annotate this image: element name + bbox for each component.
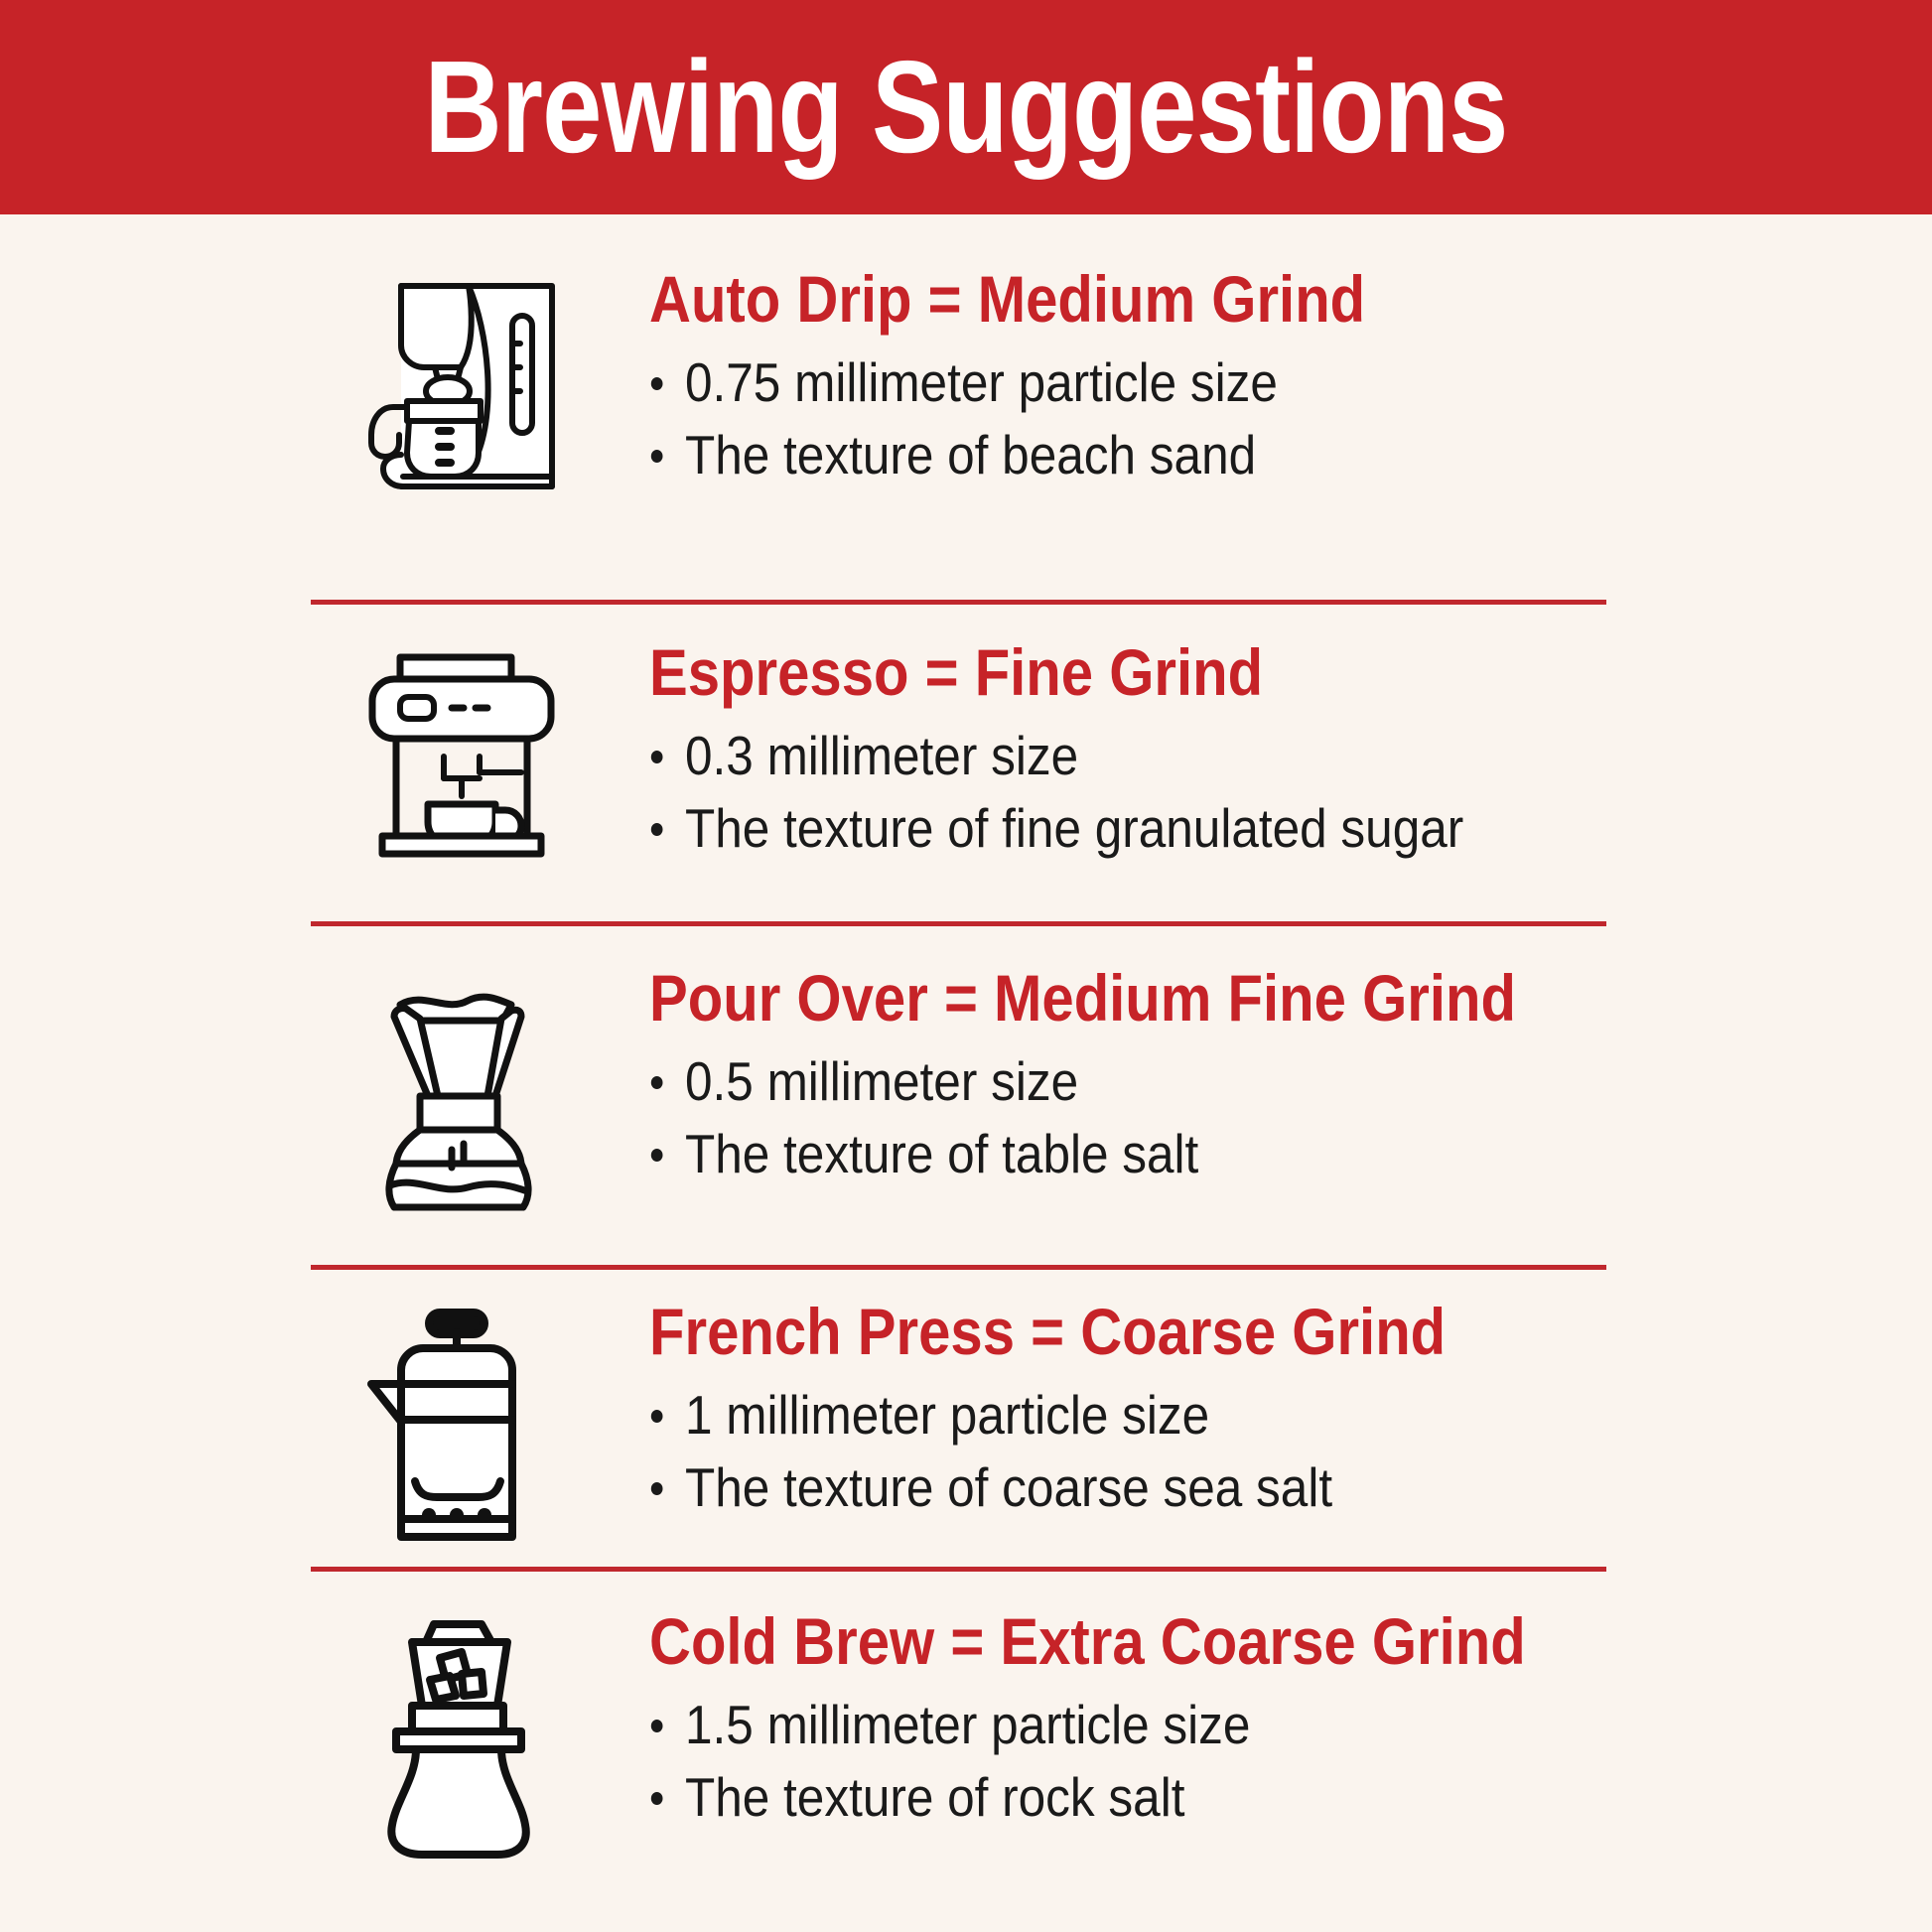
section-heading: Auto Drip = Medium Grind (649, 266, 1778, 333)
bullet-dot-icon (651, 1482, 663, 1495)
section-heading: Cold Brew = Extra Coarse Grind (649, 1608, 1778, 1675)
brew-method-section: French Press = Coarse Grind 1 millimeter… (0, 1299, 1932, 1553)
bullet-text: 0.75 millimeter particle size (685, 351, 1278, 413)
list-item: 1 millimeter particle size (649, 1379, 1804, 1451)
bullet-text: The texture of beach sand (685, 424, 1256, 485)
bullet-text: The texture of table salt (685, 1123, 1198, 1184)
bullet-dot-icon (651, 1720, 663, 1732)
icon-cell (298, 639, 625, 859)
bullet-list: 1.5 millimeter particle size The texture… (649, 1689, 1932, 1834)
list-item: The texture of coarse sea salt (649, 1451, 1804, 1524)
brew-method-section: Auto Drip = Medium Grind 0.75 millimeter… (0, 266, 1932, 500)
bullet-text: The texture of coarse sea salt (685, 1456, 1332, 1518)
section-divider (311, 921, 1606, 926)
bullet-text: 1.5 millimeter particle size (685, 1694, 1250, 1755)
text-cell: French Press = Coarse Grind 1 millimeter… (625, 1299, 1932, 1525)
section-heading: French Press = Coarse Grind (649, 1299, 1778, 1365)
brew-method-section: Pour Over = Medium Fine Grind 0.5 millim… (0, 965, 1932, 1219)
bullet-dot-icon (651, 751, 663, 763)
list-item: The texture of fine granulated sugar (649, 792, 1804, 865)
bullet-dot-icon (651, 450, 663, 463)
pour-over-chemex-icon (372, 971, 551, 1219)
section-divider (311, 1567, 1606, 1572)
bullet-text: 0.5 millimeter size (685, 1050, 1078, 1112)
bullet-list: 0.3 millimeter size The texture of fine … (649, 720, 1932, 865)
bullet-list: 0.75 millimeter particle size The textur… (649, 346, 1932, 491)
bullet-list: 0.5 millimeter size The texture of table… (649, 1045, 1932, 1190)
drip-coffee-maker-icon (357, 272, 566, 500)
section-divider (311, 600, 1606, 605)
infographic-page: Brewing Suggestions (0, 0, 1932, 1932)
list-item: 1.5 millimeter particle size (649, 1689, 1804, 1761)
bullet-dot-icon (651, 1149, 663, 1162)
text-cell: Pour Over = Medium Fine Grind 0.5 millim… (625, 965, 1932, 1191)
bullet-text: The texture of rock salt (685, 1766, 1184, 1828)
list-item: 0.3 millimeter size (649, 720, 1804, 792)
icon-cell (298, 1299, 625, 1553)
espresso-machine-icon (362, 645, 561, 859)
list-item: The texture of table salt (649, 1118, 1804, 1190)
text-cell: Cold Brew = Extra Coarse Grind 1.5 milli… (625, 1608, 1932, 1835)
list-item: 0.5 millimeter size (649, 1045, 1804, 1118)
bullet-text: 0.3 millimeter size (685, 725, 1078, 786)
icon-cell (298, 1608, 625, 1863)
bullet-text: 1 millimeter particle size (685, 1384, 1209, 1446)
cold-brew-tower-icon (372, 1614, 551, 1863)
french-press-icon (367, 1305, 556, 1553)
icon-cell (298, 266, 625, 500)
list-item: 0.75 millimeter particle size (649, 346, 1804, 419)
list-item: The texture of rock salt (649, 1761, 1804, 1834)
bullet-dot-icon (651, 377, 663, 390)
bullet-dot-icon (651, 1076, 663, 1089)
bullet-list: 1 millimeter particle size The texture o… (649, 1379, 1932, 1524)
brew-method-section: Espresso = Fine Grind 0.3 millimeter siz… (0, 639, 1932, 866)
text-cell: Espresso = Fine Grind 0.3 millimeter siz… (625, 639, 1932, 866)
list-item: The texture of beach sand (649, 419, 1804, 491)
icon-cell (298, 965, 625, 1219)
page-title: Brewing Suggestions (174, 0, 1758, 214)
bullet-text: The texture of fine granulated sugar (685, 797, 1463, 859)
brew-method-list: Auto Drip = Medium Grind 0.75 millimeter… (0, 214, 1932, 1932)
brew-method-section: Cold Brew = Extra Coarse Grind 1.5 milli… (0, 1608, 1932, 1863)
bullet-dot-icon (651, 1792, 663, 1805)
text-cell: Auto Drip = Medium Grind 0.75 millimeter… (625, 266, 1932, 492)
bullet-dot-icon (651, 1410, 663, 1423)
section-divider (311, 1265, 1606, 1270)
section-heading: Espresso = Fine Grind (649, 639, 1778, 706)
bullet-dot-icon (651, 823, 663, 836)
section-heading: Pour Over = Medium Fine Grind (649, 965, 1778, 1032)
